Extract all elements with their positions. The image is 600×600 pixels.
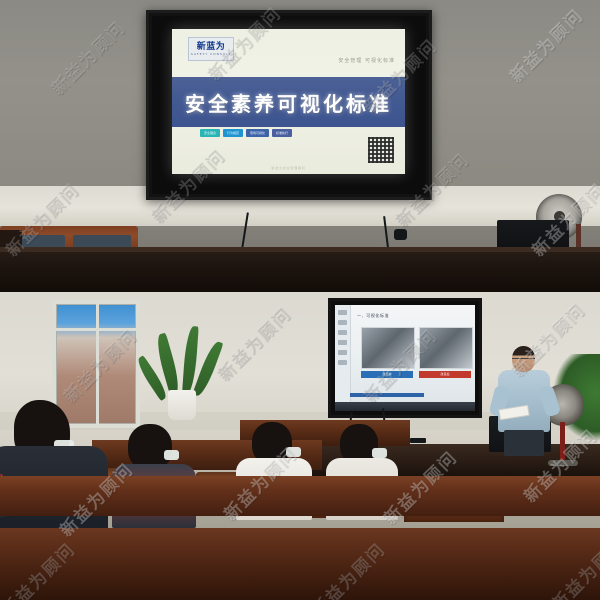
podium-edge: [0, 247, 600, 252]
window: [52, 300, 140, 428]
bench-row: [0, 528, 600, 600]
slide-photo-after: [419, 327, 473, 369]
slide-progress-bar: [350, 393, 424, 397]
panel-item: [338, 350, 347, 355]
panel-item: [338, 340, 347, 345]
qr-code-icon: [368, 137, 394, 163]
face-mask-icon: [164, 450, 179, 460]
presenter-trousers: [504, 430, 544, 456]
presenter: [498, 346, 550, 454]
slide-title-band: 安全素养可视化标准: [172, 77, 405, 127]
panel-item: [338, 360, 347, 365]
fan-post: [560, 422, 565, 464]
bottom-photograph: 一、可视化标准 改善前 改善后: [0, 292, 600, 600]
face-mask-icon: [286, 447, 301, 457]
fan-base: [548, 460, 578, 466]
panel-item: [338, 320, 347, 325]
plant-pot: [168, 390, 196, 420]
slide-label-before: 改善前: [361, 371, 413, 378]
top-photograph: 新蓝为 SAFETY CONSULT 安全管理 可视化标准 安全素养可视化标准 …: [0, 0, 600, 292]
projector-screen-frame: 新蓝为 SAFETY CONSULT 安全管理 可视化标准 安全素养可视化标准 …: [146, 10, 432, 200]
panel-item: [338, 310, 347, 315]
face-mask-icon: [372, 448, 387, 458]
projection-screen: 一、可视化标准 改善前 改善后: [328, 298, 482, 418]
logo-secondary-text: SAFETY CONSULT: [191, 52, 231, 57]
slide-photo-before: [361, 327, 415, 369]
slide-tab-0: 安全理念: [200, 129, 220, 137]
photo-composite: 新蓝为 SAFETY CONSULT 安全管理 可视化标准 安全素养可视化标准 …: [0, 0, 600, 600]
slide-side-panel: [335, 305, 351, 411]
presentation-slide: 新蓝为 SAFETY CONSULT 安全管理 可视化标准 安全素养可视化标准 …: [172, 29, 405, 174]
projected-slide-header: 一、可视化标准: [357, 313, 389, 319]
glasses-icon: [512, 358, 535, 363]
bench-row: [0, 476, 600, 516]
slide-tab-row: 安全理念 行为规范 现场可视化 标准执行: [200, 129, 292, 137]
slide-corner-note: 安全管理 可视化标准: [338, 57, 395, 64]
desk-device: [410, 438, 426, 443]
panel-item: [338, 330, 347, 335]
company-logo: 新蓝为 SAFETY CONSULT: [188, 37, 234, 61]
slide-footer-note: 新益为企业管理顾问: [271, 166, 305, 170]
slide-tab-2: 现场可视化: [246, 129, 269, 137]
desk-camera: [394, 229, 407, 240]
logo-primary-text: 新蓝为: [197, 42, 226, 52]
slide-title: 安全素养可视化标准: [185, 88, 392, 117]
slide-tab-3: 标准执行: [272, 129, 292, 137]
projected-slide: 一、可视化标准 改善前 改善后: [335, 305, 475, 411]
podium-desk: [0, 247, 600, 292]
slide-taskbar: [335, 402, 475, 411]
slide-tab-1: 行为规范: [223, 129, 243, 137]
slide-label-after: 改善后: [419, 371, 471, 378]
